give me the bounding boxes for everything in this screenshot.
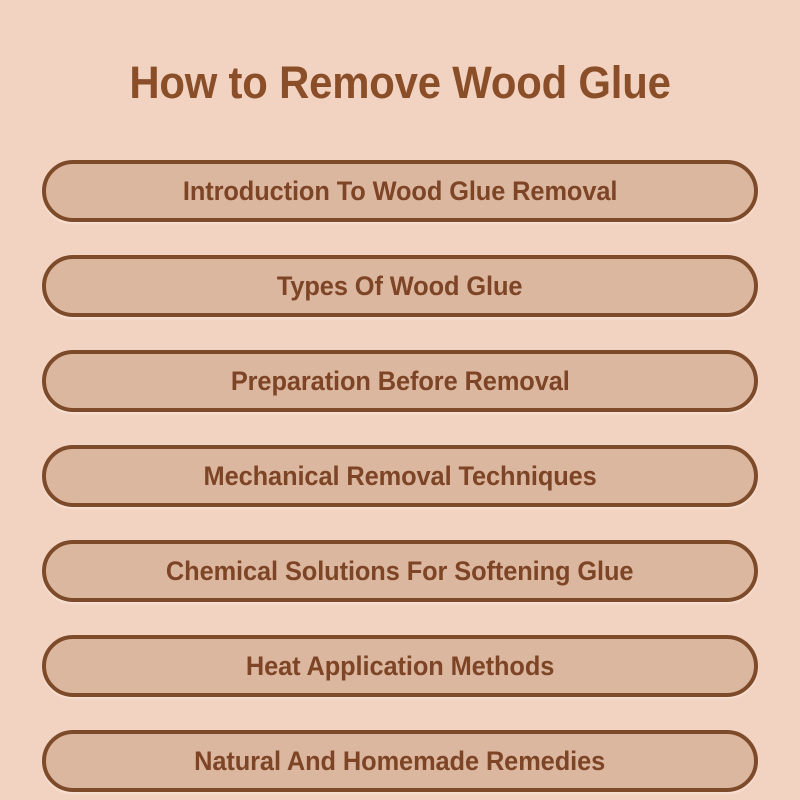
section-pill-preparation-before-removal[interactable]: Preparation Before Removal: [42, 350, 758, 412]
section-pill-natural-and-homemade-remedies[interactable]: Natural And Homemade Remedies: [42, 730, 758, 792]
section-pill-label: Mechanical Removal Techniques: [203, 463, 596, 490]
section-pill-chemical-solutions-for-softening-glue[interactable]: Chemical Solutions For Softening Glue: [42, 540, 758, 602]
section-pill-mechanical-removal-techniques[interactable]: Mechanical Removal Techniques: [42, 445, 758, 507]
section-pill-types-of-wood-glue[interactable]: Types Of Wood Glue: [42, 255, 758, 317]
section-pill-introduction-to-wood-glue-removal[interactable]: Introduction To Wood Glue Removal: [42, 160, 758, 222]
section-pill-label: Natural And Homemade Remedies: [194, 748, 605, 775]
page-title: How to Remove Wood Glue: [28, 60, 772, 105]
section-pill-label: Preparation Before Removal: [231, 368, 570, 395]
section-pill-label: Heat Application Methods: [246, 653, 554, 680]
section-pill-list: Introduction To Wood Glue Removal Types …: [42, 160, 758, 792]
section-pill-label: Introduction To Wood Glue Removal: [183, 178, 617, 205]
infographic-root: How to Remove Wood Glue Introduction To …: [0, 0, 800, 800]
section-pill-heat-application-methods[interactable]: Heat Application Methods: [42, 635, 758, 697]
section-pill-label: Chemical Solutions For Softening Glue: [166, 558, 634, 585]
section-pill-label: Types Of Wood Glue: [277, 273, 523, 300]
